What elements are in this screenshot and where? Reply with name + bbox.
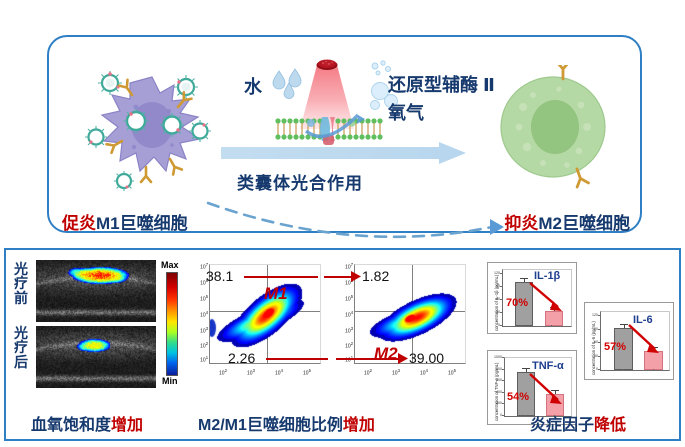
bar-chart-tnfa-decrease-arrow xyxy=(528,372,568,408)
bar-tick-label: 120 xyxy=(490,271,500,275)
bar-tick-label: 0 xyxy=(588,367,598,371)
bar-tick-mark xyxy=(500,273,502,274)
bar-chart-il1b: concentration of IL-1β (pg/mL) 030609012… xyxy=(487,262,577,334)
bar-tick-label: 0 xyxy=(490,323,500,327)
bar-chart-tnfa-reduction: 54% xyxy=(507,391,529,403)
bottom-results-panel: 光疗前 光疗后 Max Min 107 106 105 104 103 102 … xyxy=(4,248,681,441)
bar-tick-label: 0 xyxy=(492,413,502,417)
bar-tick-label: 90 xyxy=(588,327,598,331)
bar-chart-il1b-decrease-arrow xyxy=(528,281,568,315)
label-oxygen: 氧气 xyxy=(388,99,424,125)
flow-right-value-lower-right: 39.00 xyxy=(409,350,444,366)
flow-right-x-axis: 102 103 104 105 xyxy=(354,364,466,380)
label-m1-suffix: M1巨噬细胞 xyxy=(96,214,188,233)
m2-macrophage-cell-icon xyxy=(485,65,620,190)
colorbar-min-label: Min xyxy=(162,376,178,386)
label-m2-macrophage: 抑炎M2巨噬细胞 xyxy=(504,209,630,234)
bar-tick-label: 60 xyxy=(588,340,598,344)
conversion-arrow-icon xyxy=(221,142,466,164)
caption-3-red: 降低 xyxy=(594,417,626,434)
ultrasound-photoacoustic-after-image xyxy=(36,326,156,388)
water-droplets-icon xyxy=(271,67,311,101)
bar-tick-mark xyxy=(598,369,600,370)
caption-2-red: 增加 xyxy=(343,417,375,434)
label-after-phototherapy: 光疗后 xyxy=(12,326,30,369)
bar-tick-label: 800 xyxy=(492,367,502,371)
caption-inflammatory-factors: 炎症因子降低 xyxy=(530,411,626,435)
bar-tick-label: 1000 xyxy=(492,355,502,359)
label-water: 水 xyxy=(244,73,262,99)
flow-right-arrowhead-upper xyxy=(351,271,361,282)
label-m2-prefix: 抑炎 xyxy=(504,214,538,233)
bar-tick-mark xyxy=(502,415,504,416)
bar-tick-label: 200 xyxy=(492,401,502,405)
flow-right-pointer-lower xyxy=(336,358,402,360)
caption-oxygen-saturation: 血氧饱和度增加 xyxy=(31,411,143,435)
bar-chart-il6-decrease-arrow xyxy=(627,323,665,357)
label-m2-suffix: M2巨噬细胞 xyxy=(538,214,630,233)
bar-tick-mark xyxy=(502,369,504,370)
caption-1-red: 增加 xyxy=(111,417,143,434)
bar-tick-mark xyxy=(500,286,502,287)
bar-tick-mark xyxy=(502,403,504,404)
flow-left-x-axis: 102 103 104 105 xyxy=(209,364,321,380)
caption-2-navy: M2/M1巨噬细胞比例 xyxy=(198,417,343,434)
caption-m2-m1-ratio: M2/M1巨噬细胞比例增加 xyxy=(198,411,375,435)
bar-tick-mark xyxy=(500,325,502,326)
flow-right-arrowhead-lower xyxy=(398,353,408,364)
photoacoustic-colorbar xyxy=(166,272,178,376)
flow-left-pointer-lower xyxy=(266,358,328,360)
bar-tick-label: 120 xyxy=(588,313,598,317)
bar-tick-label: 400 xyxy=(492,390,502,394)
bar-tick-label: 90 xyxy=(490,284,500,288)
bar-chart-il6: concentration of IL-6 (pg/mL) 0306090120… xyxy=(584,302,674,380)
bar-tick-mark xyxy=(502,392,504,393)
flow-left-value-upper-left: 38.1 xyxy=(206,268,233,284)
m1-macrophage-cell-icon xyxy=(74,59,234,199)
bar-tick-label: 600 xyxy=(492,378,502,382)
label-nadph: 还原型辅酶 Ⅱ xyxy=(388,71,495,97)
bar-chart-il6-reduction: 57% xyxy=(604,341,626,353)
dashed-polarization-arc-icon xyxy=(204,197,514,242)
label-before-phototherapy: 光疗前 xyxy=(12,262,30,305)
bar-tick-mark xyxy=(500,299,502,300)
label-m1-macrophage: 促炎M1巨噬细胞 xyxy=(62,209,188,234)
bar-tick-mark xyxy=(598,315,600,316)
flow-right-tag-m2: M2 xyxy=(374,344,398,364)
label-thylakoid-photosynthesis: 类囊体光合作用 xyxy=(237,169,363,194)
colorbar-max-label: Max xyxy=(161,260,179,270)
ultrasound-photoacoustic-before-image xyxy=(36,260,156,322)
bar-tick-label: 30 xyxy=(588,354,598,358)
bar-tick-mark xyxy=(502,357,504,358)
bar-tick-mark xyxy=(598,342,600,343)
bar-tick-mark xyxy=(598,356,600,357)
bar-chart-tnfa-title: TNF-α xyxy=(532,360,564,372)
bar-tick-mark xyxy=(500,312,502,313)
caption-1-navy: 血氧饱和度 xyxy=(31,417,111,434)
label-m1-prefix: 促炎 xyxy=(62,214,96,233)
bar-tick-label: 60 xyxy=(490,297,500,301)
bar-tick-mark xyxy=(502,380,504,381)
bar-tick-label: 30 xyxy=(490,310,500,314)
bar-chart-il1b-reduction: 70% xyxy=(506,297,528,309)
bar-tick-mark xyxy=(598,329,600,330)
flow-right-value-upper-left: 1.82 xyxy=(362,268,389,284)
caption-3-navy: 炎症因子 xyxy=(530,417,594,434)
flow-left-value-lower-right: 2.26 xyxy=(228,350,255,366)
flow-left-tag-m1: M1 xyxy=(264,284,288,304)
flow-left-pointer-upper xyxy=(244,276,318,278)
top-schematic-panel: 水 还原型辅酶 Ⅱ 氧气 类囊体光合作用 xyxy=(47,35,642,233)
